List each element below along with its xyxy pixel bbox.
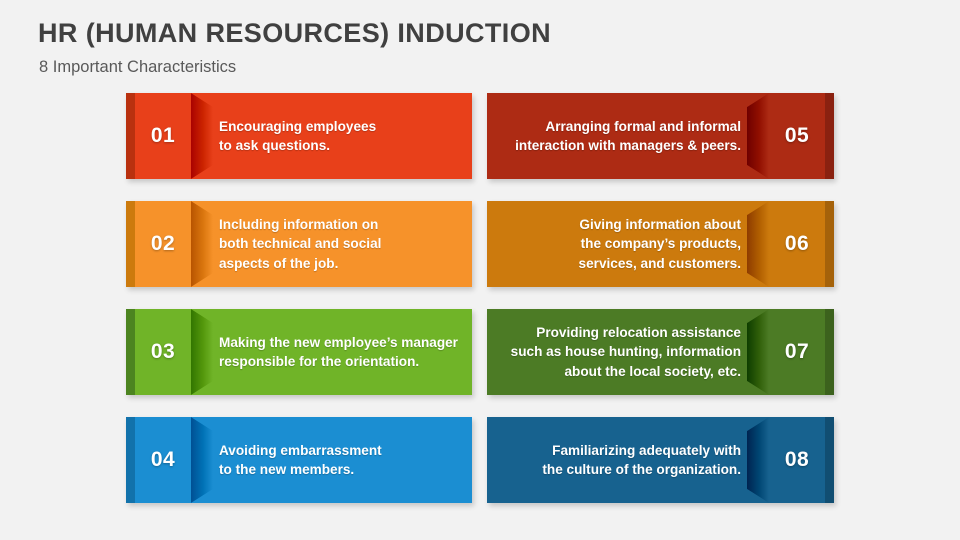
bar-text-line: both technical and social (219, 234, 381, 253)
slide-canvas: HR (HUMAN RESOURCES) INDUCTION 8 Importa… (0, 0, 960, 540)
bar-edge-accent (825, 93, 834, 179)
bar-edge-accent (825, 417, 834, 503)
bar-text-line: the culture of the organization. (542, 460, 741, 479)
bar-text: Including information onboth technical a… (219, 201, 460, 287)
bar-edge-accent (825, 201, 834, 287)
characteristic-bar-03[interactable]: 03Making the new employee’s managerrespo… (126, 309, 472, 395)
chevron-fold-icon (191, 417, 213, 503)
bar-text: Giving information aboutthe company’s pr… (499, 201, 741, 287)
bar-edge-accent (126, 201, 135, 287)
bar-text: Arranging formal and informalinteraction… (499, 93, 741, 179)
bar-text-line: to the new members. (219, 460, 354, 479)
bar-text-line: Encouraging employees (219, 117, 376, 136)
slide-header: HR (HUMAN RESOURCES) INDUCTION 8 Importa… (38, 18, 918, 77)
bar-text-line: Arranging formal and informal (545, 117, 741, 136)
chevron-fold-icon (747, 93, 769, 179)
characteristics-board: 01Encouraging employeesto ask questions.… (0, 93, 960, 506)
characteristic-bar-04[interactable]: 04Avoiding embarrassmentto the new membe… (126, 417, 472, 503)
chevron-fold-icon (191, 201, 213, 287)
bar-text-line: to ask questions. (219, 136, 330, 155)
bar-number: 05 (769, 93, 825, 179)
bar-text: Providing relocation assistancesuch as h… (499, 309, 741, 395)
bar-number: 07 (769, 309, 825, 395)
chevron-fold-icon (747, 201, 769, 287)
bar-text: Making the new employee’s managerrespons… (219, 309, 460, 395)
bar-text: Avoiding embarrassmentto the new members… (219, 417, 460, 503)
chevron-fold-icon (191, 93, 213, 179)
bar-text-line: Providing relocation assistance (536, 323, 741, 342)
chevron-fold-icon (747, 309, 769, 395)
bar-text-line: Giving information about (579, 215, 741, 234)
characteristic-bar-02[interactable]: 02Including information onboth technical… (126, 201, 472, 287)
page-subtitle: 8 Important Characteristics (39, 58, 918, 77)
bar-text-line: Familiarizing adequately with (552, 441, 741, 460)
characteristic-bar-06[interactable]: 06Giving information aboutthe company’s … (487, 201, 834, 287)
characteristic-bar-05[interactable]: 05Arranging formal and informalinteracti… (487, 93, 834, 179)
bar-edge-accent (126, 309, 135, 395)
characteristic-bar-08[interactable]: 08Familiarizing adequately withthe cultu… (487, 417, 834, 503)
characteristic-bar-01[interactable]: 01Encouraging employeesto ask questions. (126, 93, 472, 179)
bar-edge-accent (126, 93, 135, 179)
bar-edge-accent (825, 309, 834, 395)
bar-number: 06 (769, 201, 825, 287)
bar-number: 03 (135, 309, 191, 395)
bar-text-line: about the local society, etc. (564, 362, 741, 381)
bar-text-line: the company’s products, (581, 234, 741, 253)
bar-text-line: Avoiding embarrassment (219, 441, 382, 460)
bar-text-line: aspects of the job. (219, 254, 338, 273)
bar-text-line: responsible for the orientation. (219, 352, 419, 371)
bar-number: 01 (135, 93, 191, 179)
bar-text-line: interaction with managers & peers. (515, 136, 741, 155)
bar-text-line: services, and customers. (579, 254, 741, 273)
bar-text: Encouraging employeesto ask questions. (219, 93, 460, 179)
bar-text: Familiarizing adequately withthe culture… (499, 417, 741, 503)
characteristic-bar-07[interactable]: 07Providing relocation assistancesuch as… (487, 309, 834, 395)
bar-edge-accent (126, 417, 135, 503)
bar-number: 04 (135, 417, 191, 503)
page-title: HR (HUMAN RESOURCES) INDUCTION (38, 18, 918, 49)
bar-text-line: Including information on (219, 215, 378, 234)
chevron-fold-icon (747, 417, 769, 503)
bar-text-line: such as house hunting, information (511, 342, 741, 361)
bar-text-line: Making the new employee’s manager (219, 333, 458, 352)
bar-number: 02 (135, 201, 191, 287)
chevron-fold-icon (191, 309, 213, 395)
bar-number: 08 (769, 417, 825, 503)
